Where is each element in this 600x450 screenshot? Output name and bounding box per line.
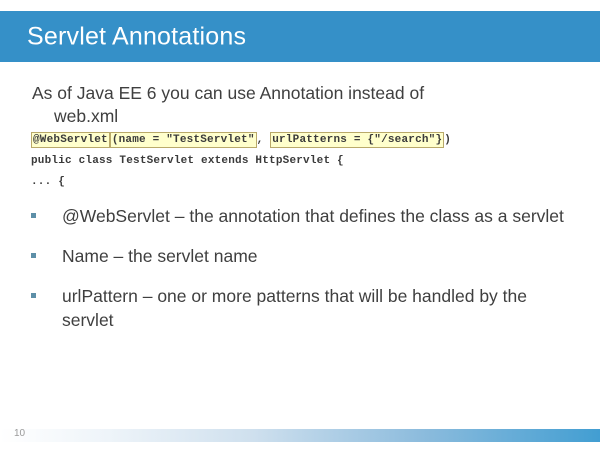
- list-item: urlPattern – one or more patterns that w…: [28, 284, 573, 332]
- code-line-class-decl: public class TestServlet extends HttpSer…: [31, 151, 551, 172]
- list-item-label: Name – the servlet name: [62, 246, 258, 266]
- bullet-marker-icon: [31, 293, 36, 298]
- code-block: @WebServlet(name = "TestServlet", urlPat…: [31, 130, 551, 193]
- footer-gradient-bar: [0, 429, 600, 442]
- bullet-list: @WebServlet – the annotation that define…: [28, 204, 573, 348]
- code-line-body: ... {: [31, 172, 551, 193]
- code-segment-annotation-name: @WebServlet: [31, 132, 110, 148]
- list-item-label: urlPattern – one or more patterns that w…: [62, 286, 527, 330]
- code-segment-urlpatterns-attr: urlPatterns = {"/search"}: [270, 132, 444, 148]
- intro-line-1: As of Java EE 6 you can use Annotation i…: [32, 83, 424, 103]
- bullet-marker-icon: [31, 213, 36, 218]
- intro-line-2: web.xml: [32, 105, 512, 128]
- slide: Servlet Annotations As of Java EE 6 you …: [0, 0, 600, 450]
- code-segment-close-paren: ): [444, 134, 451, 146]
- code-segment-name-attr: (name = "TestServlet": [110, 132, 257, 148]
- page-title: Servlet Annotations: [27, 22, 246, 51]
- list-item: @WebServlet – the annotation that define…: [28, 204, 573, 228]
- list-item-label: @WebServlet – the annotation that define…: [62, 206, 564, 226]
- slide-number: 10: [14, 428, 25, 439]
- bullet-marker-icon: [31, 253, 36, 258]
- code-line-annotation: @WebServlet(name = "TestServlet", urlPat…: [31, 130, 551, 151]
- code-segment-comma: ,: [257, 134, 271, 146]
- intro-paragraph: As of Java EE 6 you can use Annotation i…: [32, 82, 512, 128]
- title-banner: Servlet Annotations: [0, 11, 600, 62]
- list-item: Name – the servlet name: [28, 244, 573, 268]
